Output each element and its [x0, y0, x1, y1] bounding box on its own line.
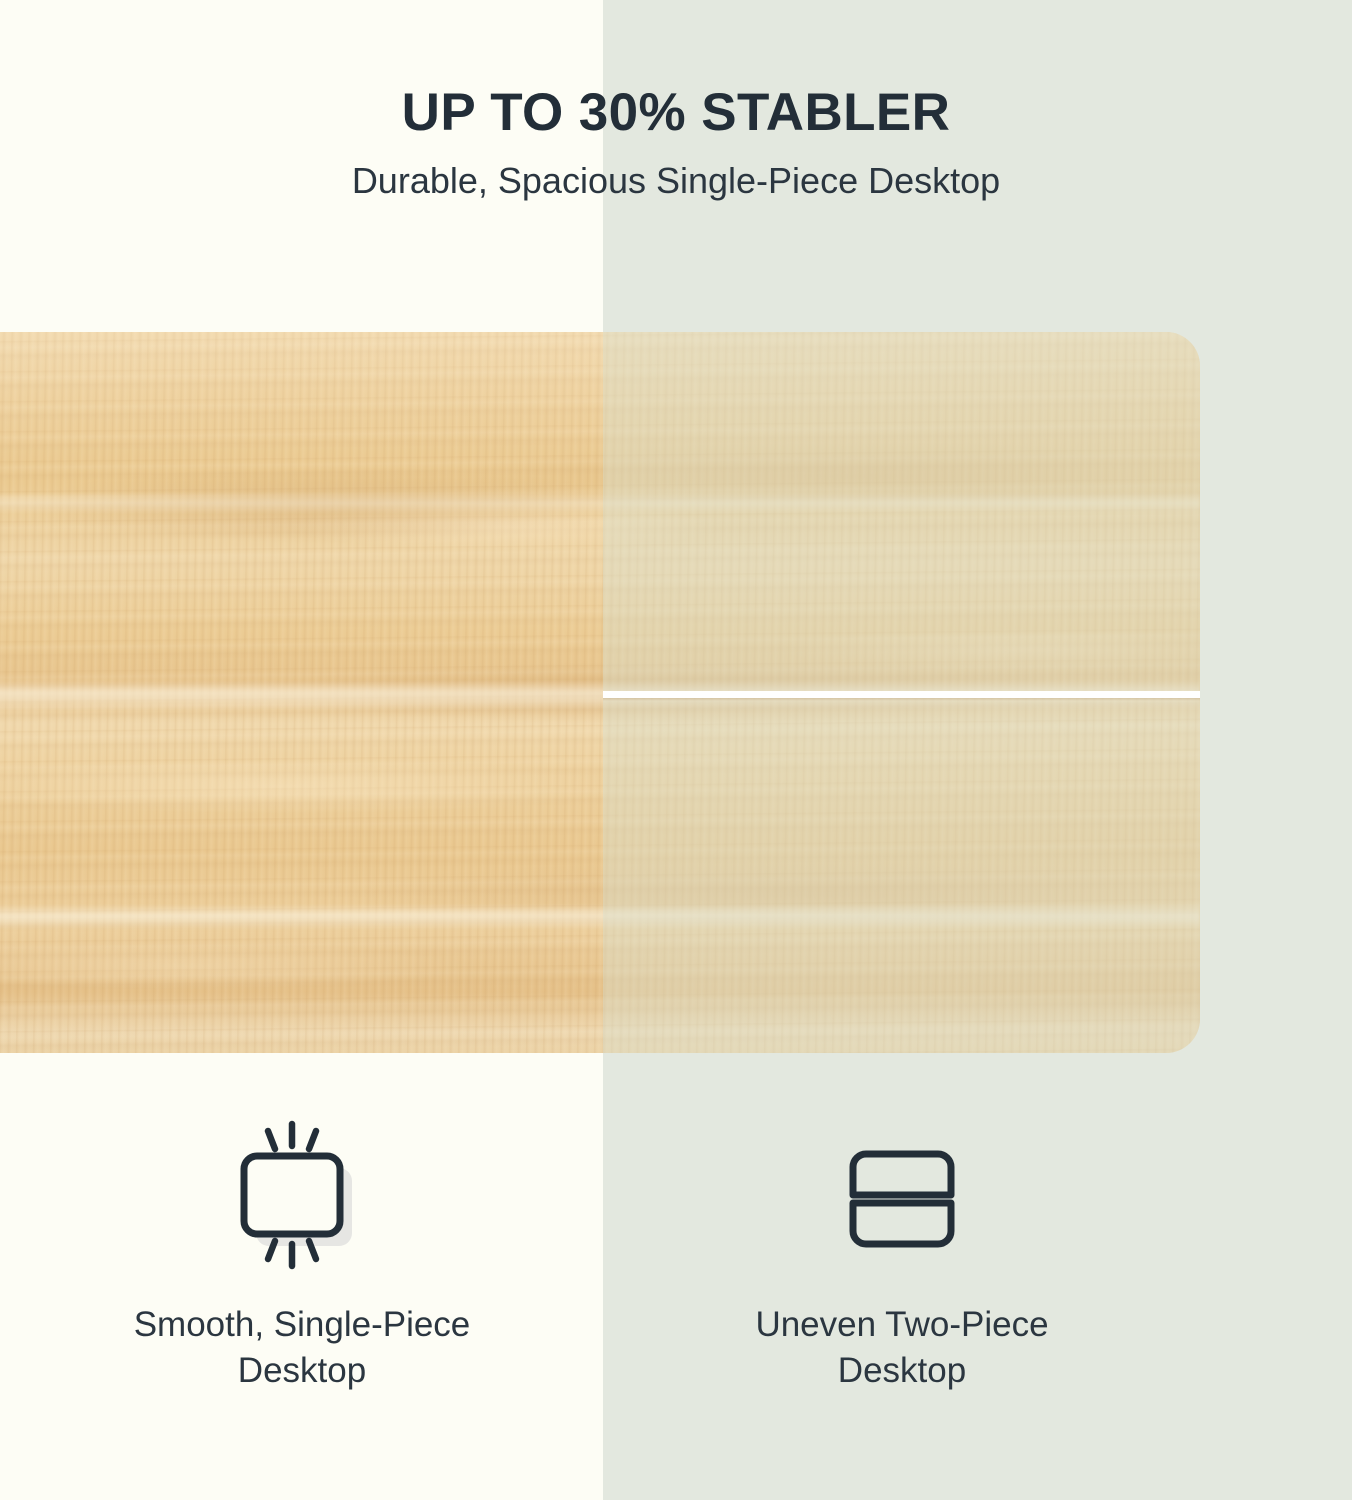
two-piece-desktop-icon: [827, 1110, 977, 1260]
promo-banner: UP TO 30% STABLER Durable, Spacious Sing…: [0, 0, 1352, 1500]
header-block: UP TO 30% STABLER Durable, Spacious Sing…: [0, 0, 1352, 203]
single-piece-caption-line2: Desktop: [2, 1348, 602, 1394]
single-piece-desktop-icon: [227, 1110, 377, 1260]
two-piece-caption-line2: Desktop: [602, 1348, 1202, 1394]
two-piece-caption: Uneven Two-Piece Desktop: [602, 1302, 1202, 1393]
two-piece-seam-shadow: [603, 698, 1200, 701]
comparison-item-two-piece: Uneven Two-Piece Desktop: [602, 1110, 1202, 1430]
single-piece-icon-slot: [2, 1110, 602, 1260]
wood-desktop-image: [0, 332, 1200, 1053]
single-piece-caption: Smooth, Single-Piece Desktop: [2, 1302, 602, 1393]
two-piece-caption-line1: Uneven Two-Piece: [755, 1305, 1048, 1344]
two-piece-seam-gap: [603, 691, 1200, 698]
comparison-row: Smooth, Single-Piece Desktop Uneven Two-…: [0, 1110, 1352, 1430]
comparison-item-single-piece: Smooth, Single-Piece Desktop: [2, 1110, 602, 1430]
subheadline: Durable, Spacious Single-Piece Desktop: [0, 159, 1352, 202]
single-piece-caption-line1: Smooth, Single-Piece: [134, 1305, 471, 1344]
headline: UP TO 30% STABLER: [0, 82, 1352, 143]
two-piece-icon-slot: [602, 1110, 1202, 1260]
